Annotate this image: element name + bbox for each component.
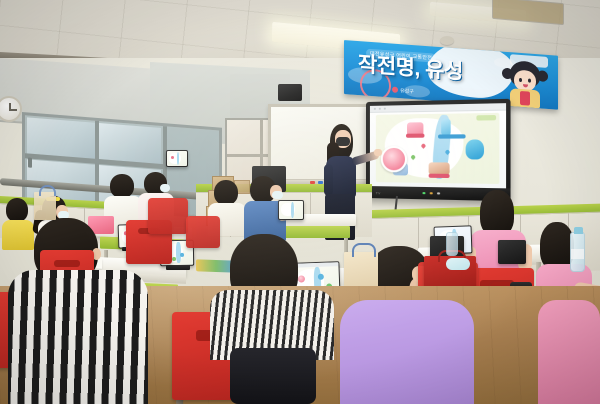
paper-bag-handle[interactable] [352, 243, 376, 257]
tv-screen[interactable] [370, 103, 506, 188]
paper-bag-2 [34, 192, 56, 220]
teacher-arm-down [324, 164, 333, 196]
student-purple-body-fg [340, 300, 474, 404]
tv-led-green [422, 192, 425, 194]
map-label-2 [438, 134, 466, 138]
map-label-3 [429, 173, 450, 177]
student-right-pink-fg [538, 300, 600, 404]
water-bottle-1[interactable] [570, 232, 585, 272]
teacher-hand [374, 149, 382, 156]
tablet-7-closed[interactable] [498, 240, 526, 264]
tablet-screen[interactable] [279, 201, 303, 219]
girl-mouth [523, 84, 528, 87]
map-label-1 [405, 133, 423, 137]
paper-bag-handle-2[interactable] [39, 185, 56, 196]
wall-speaker [278, 84, 302, 101]
bottle-label [571, 249, 584, 259]
banner-logo: 유성구 [400, 87, 414, 95]
girl-eye-right [528, 79, 531, 83]
student-hair [214, 180, 238, 205]
map-icon-tower [441, 119, 450, 136]
student-hair [110, 174, 134, 198]
tv-power-led[interactable] [437, 192, 440, 194]
student-shirt-fg [8, 270, 148, 404]
bottle-cap[interactable] [574, 227, 583, 234]
student-hair [540, 222, 574, 270]
mask-on-desk [446, 258, 470, 270]
student-front-left-body-fg [8, 270, 148, 404]
tablet-1[interactable] [166, 150, 188, 167]
tv-led-amber [430, 192, 433, 194]
tv-browser-bar [370, 103, 506, 113]
tablet-3-stand [166, 265, 190, 270]
map-mascot [465, 140, 483, 160]
water-bottle-2[interactable] [446, 232, 458, 256]
student-mask [160, 184, 170, 192]
classroom-photo: 대전유성구 어린이 교통안전 작전명, 유성 유성구 [0, 0, 600, 404]
student-front-center-body-fg [210, 290, 334, 404]
map-corner-logo [476, 115, 496, 121]
tv-map-graphic [376, 113, 500, 184]
tablet-4[interactable] [278, 200, 304, 220]
student-mask [272, 191, 283, 199]
girl-sash [520, 91, 530, 106]
student-skirt-fg [230, 348, 316, 404]
chair-center-row[interactable] [186, 216, 220, 248]
ceiling-smoke-detector [440, 36, 454, 45]
tablet-screen[interactable] [167, 151, 187, 166]
chair-left-row-3[interactable] [148, 198, 188, 234]
girl-eye-left [519, 78, 522, 82]
window-latch[interactable] [28, 157, 32, 167]
tv-brand-label: TV [376, 191, 381, 195]
smart-tv[interactable]: TV [366, 99, 511, 201]
map-badge-emblem [381, 146, 407, 172]
